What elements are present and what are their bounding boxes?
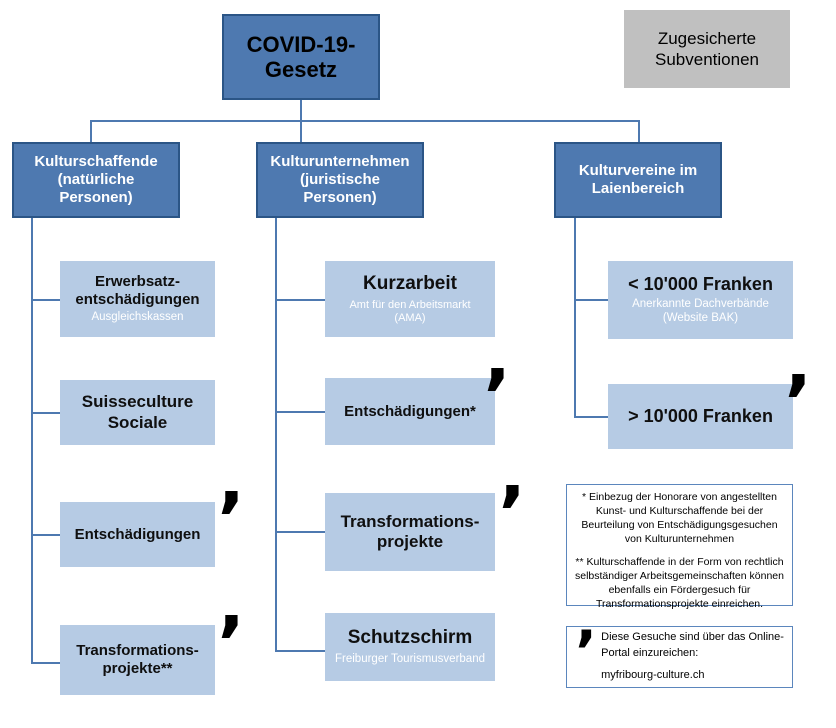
connector-branch1-item3 (31, 534, 60, 536)
leaf-unter-10000-franken[interactable]: < 10'000 Franken Anerkannte Dachverbände… (608, 261, 793, 339)
leaf-title: < 10'000 Franken (628, 274, 773, 295)
connector-branch3-item2 (574, 416, 608, 418)
quote-mark-icon: ’ (575, 632, 601, 674)
leaf-schutzschirm[interactable]: Schutzschirm Freiburger Tourismusverband (325, 613, 495, 681)
connector-branch1-item1 (31, 299, 60, 301)
footnote-single-asterisk: * Einbezug der Honorare von angestellten… (575, 491, 784, 547)
online-portal-box[interactable]: ’ Diese Gesuche sind über das Online-Por… (566, 626, 793, 688)
leaf-subtitle: Freiburger Tourismusverband (335, 653, 485, 667)
footnote-double-asterisk: ** Kulturschaffende in der Form von rech… (575, 556, 784, 612)
leaf-title: Schutzschirm (348, 627, 473, 649)
leaf-subtitle: Ausgleichskassen (91, 311, 183, 325)
leaf-title: Entschädigungen (75, 526, 201, 544)
node-kulturschaffende[interactable]: Kulturschaffende(natürlichePersonen) (12, 142, 180, 218)
connector-branch2-item4 (275, 650, 325, 652)
connector-branch3-spine (574, 218, 576, 418)
connector-branch2-spine (275, 218, 277, 652)
leaf-kurzarbeit[interactable]: Kurzarbeit Amt für den Arbeitsmarkt(AMA) (325, 261, 495, 337)
quote-mark-icon: ’ (217, 618, 245, 671)
node-kulturvereine[interactable]: Kulturvereine imLaienbereich (554, 142, 722, 218)
connector-branch1-item2 (31, 412, 60, 414)
node-kulturunternehmen[interactable]: Kulturunternehmen(juristischePersonen) (256, 142, 424, 218)
portal-url[interactable]: myfribourg-culture.ch (601, 668, 784, 684)
leaf-suisseculture-sociale[interactable]: SuissecultureSociale (60, 380, 215, 445)
leaf-title: SuissecultureSociale (82, 392, 194, 432)
quote-mark-icon: ’ (498, 488, 526, 541)
leaf-title: Kurzarbeit (363, 273, 457, 295)
connector-level1-bus (90, 120, 640, 122)
leaf-ueber-10000-franken[interactable]: > 10'000 Franken (608, 384, 793, 449)
connector-branch3-item1 (574, 299, 608, 301)
legend-label: ZugesicherteSubventionen (655, 28, 759, 71)
leaf-title: Transformations-projekte (341, 512, 480, 552)
node-label: COVID-19-Gesetz (247, 32, 356, 83)
connector-branch2-item2 (275, 411, 325, 413)
connector-branch1-spine (31, 218, 33, 664)
connector-drop-branch-3 (638, 120, 640, 142)
quote-mark-icon: ’ (217, 494, 245, 547)
connector-branch2-item3 (275, 531, 325, 533)
leaf-title: Erwerbsatz-entschädigungen (75, 273, 199, 308)
leaf-erwerbsatzentschaedigungen[interactable]: Erwerbsatz-entschädigungen Ausgleichskas… (60, 261, 215, 337)
leaf-transformationsprojekte-juristische[interactable]: Transformations-projekte (325, 493, 495, 571)
legend-zugesicherte-subventionen: ZugesicherteSubventionen (624, 10, 790, 88)
leaf-subtitle: Amt für den Arbeitsmarkt(AMA) (349, 299, 470, 325)
leaf-title: Entschädigungen* (344, 403, 476, 421)
portal-text-wrap: Diese Gesuche sind über das Online-Porta… (601, 630, 784, 685)
connector-drop-branch-2 (300, 120, 302, 142)
portal-instruction: Diese Gesuche sind über das Online-Porta… (601, 631, 784, 659)
footnotes-box: * Einbezug der Honorare von angestellten… (566, 484, 793, 606)
leaf-title: Transformations-projekte** (76, 642, 199, 677)
connector-branch1-item4 (31, 662, 60, 664)
connector-root-stem (300, 100, 302, 121)
leaf-transformationsprojekte-natuerliche[interactable]: Transformations-projekte** (60, 625, 215, 695)
quote-mark-icon: ’ (483, 371, 511, 424)
leaf-entschaedigungen-juristische[interactable]: Entschädigungen* (325, 378, 495, 445)
leaf-title: > 10'000 Franken (628, 406, 773, 427)
connector-branch2-item1 (275, 299, 325, 301)
diagram-canvas: ZugesicherteSubventionen COVID-19-Gesetz… (0, 0, 836, 728)
connector-drop-branch-1 (90, 120, 92, 142)
node-label: Kulturunternehmen(juristischePersonen) (270, 153, 409, 207)
quote-mark-icon: ’ (784, 377, 812, 430)
node-label: Kulturvereine imLaienbereich (579, 162, 697, 198)
node-covid19-gesetz[interactable]: COVID-19-Gesetz (222, 14, 380, 100)
node-label: Kulturschaffende(natürlichePersonen) (34, 153, 157, 207)
leaf-subtitle: Anerkannte Dachverbände(Website BAK) (632, 298, 769, 326)
leaf-entschaedigungen-natuerliche[interactable]: Entschädigungen (60, 502, 215, 567)
